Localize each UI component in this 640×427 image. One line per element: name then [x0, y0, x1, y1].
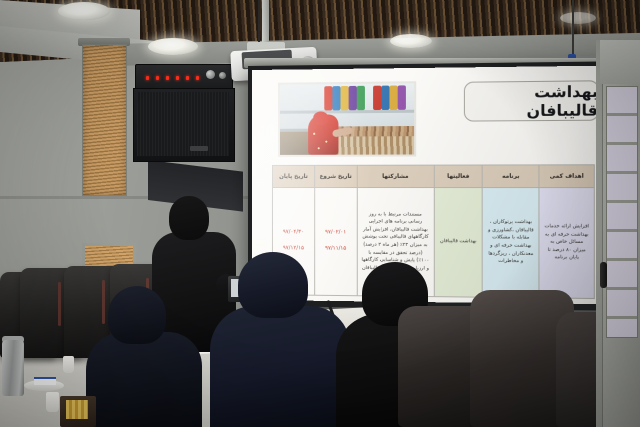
end-date-1: ۹۷/۰۴/۳۰	[274, 225, 313, 241]
header-end-date: تاریخ پایان	[272, 165, 314, 187]
cell-goals-text: افزایش ارائه خدمات بهداشت حرفه ای به مسا…	[541, 221, 593, 265]
audience-hijab	[108, 286, 166, 344]
yarn-skein	[340, 86, 348, 110]
wooden-louvered-blind	[82, 44, 127, 196]
name-card	[34, 377, 56, 385]
cell-program: بهداشت پرتوکاران ، قالیبافان ،کشاورزی و …	[482, 188, 539, 298]
start-date-2: ۹۷/۱۱/۱۵	[316, 241, 355, 257]
audience-hijab	[238, 252, 308, 318]
ceiling-light-icon	[58, 2, 110, 20]
amp-knob	[219, 72, 226, 79]
header-goals: اهداف کمی	[539, 165, 594, 188]
yarn-skein	[349, 86, 357, 110]
amp-knob	[206, 70, 215, 79]
header-start-date: تاریخ شروع	[314, 165, 356, 187]
amp-led-indicator	[156, 76, 159, 80]
amp-led-indicator	[186, 76, 189, 80]
cell-activities-text: بهداشت قالیبافان	[436, 236, 481, 248]
amp-led-indicator	[176, 76, 179, 80]
cell-program-text: بهداشت پرتوکاران ، قالیبافان ،کشاورزی و …	[484, 217, 538, 268]
amp-led-indicator	[166, 76, 169, 80]
projector-mount-pole	[262, 0, 269, 44]
yarn-skein	[332, 86, 340, 110]
table-header-row: اهداف کمی برنامه فعالیتها مشارکتها تاریخ…	[272, 165, 594, 188]
cell-goals: افزایش ارائه خدمات بهداشت حرفه ای به مسا…	[539, 188, 594, 299]
paper-cup	[63, 356, 74, 373]
slide-table: اهداف کمی برنامه فعالیتها مشارکتها تاریخ…	[272, 164, 595, 299]
audience-member-navy-hijab	[210, 306, 350, 427]
amp-led-indicator	[196, 76, 199, 80]
door-glass-panes	[606, 86, 638, 338]
paper-cup	[46, 392, 59, 412]
slide-photo-carpet-weaver	[278, 81, 416, 157]
projection-screen: بهداشت قالیبافان	[252, 66, 612, 305]
presenter-hijab	[169, 196, 209, 240]
thermos	[2, 340, 24, 396]
sugar-packets	[66, 400, 88, 419]
ceiling-light-icon	[560, 12, 596, 24]
ceiling-light-icon	[148, 38, 198, 55]
chair-seam	[58, 282, 61, 326]
presentation-room-photo: بهداشت قالیبافان	[0, 0, 640, 427]
photo-carpet	[332, 136, 414, 155]
photo-weaver-head	[313, 111, 328, 124]
cell-start-date: ۹۷/۰۲/۰۱ ۹۷/۱۱/۱۵	[314, 188, 356, 296]
yarn-skein	[324, 86, 332, 110]
yarn-skein	[357, 86, 365, 110]
door-handle[interactable]	[600, 262, 607, 288]
header-partnerships: مشارکتها	[357, 165, 434, 187]
header-program: برنامه	[482, 165, 539, 188]
amp-led-indicator	[146, 76, 149, 80]
door-transom	[600, 40, 640, 84]
yarn-skein	[381, 86, 389, 110]
slide-title-box: بهداشت قالیبافان	[464, 80, 599, 121]
table-row: افزایش ارائه خدمات بهداشت حرفه ای به مسا…	[272, 188, 594, 299]
start-date-1: ۹۷/۰۲/۰۱	[316, 226, 355, 242]
yarn-skein	[373, 86, 381, 110]
speaker-badge	[190, 146, 208, 151]
yarn-skein	[389, 85, 397, 109]
yarn-skein	[398, 85, 406, 109]
presentation-slide: بهداشت قالیبافان	[252, 66, 612, 305]
chair-seam	[102, 280, 105, 324]
audience-member-left-edge	[86, 332, 202, 427]
cell-activities: بهداشت قالیبافان	[434, 188, 482, 298]
ceiling-light-icon	[390, 34, 432, 48]
speaker-grille	[137, 92, 229, 156]
slide-title: بهداشت قالیبافان	[465, 82, 598, 120]
header-activities: فعالیتها	[434, 165, 482, 188]
